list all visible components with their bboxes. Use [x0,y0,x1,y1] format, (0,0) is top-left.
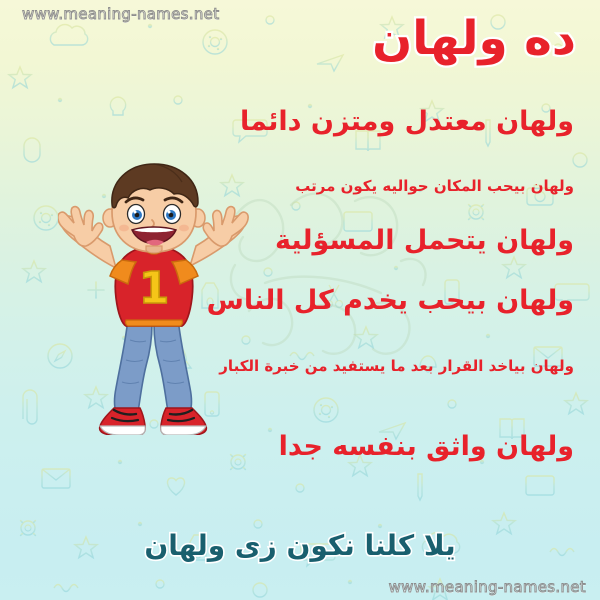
boy-right-arm [190,207,248,266]
ghost-calligraphy-watermark [205,165,455,385]
boy-left-arm [58,207,116,268]
closing-line: يلا كلنا نكون زى ولهان [0,530,600,562]
name-meaning-card: www.meaning-names.net ده ولهان ولهان معت… [0,0,600,600]
trait-line-3: ولهان يتحمل المسؤلية [275,226,574,256]
page-title: ده ولهان [372,14,576,63]
trait-line-2: ولهان بيحب المكان حواليه يكون مرتب [295,178,574,195]
trait-line-6: ولهان واثق بنفسه جدا [279,432,574,462]
shirt-number: 1 [139,263,170,314]
watermark-bottom: www.meaning-names.net [389,578,586,596]
boy-legs [115,318,192,412]
boy-shirt: 1 [110,246,198,326]
trait-line-1: ولهان معتدل ومتزن دائما [240,107,574,137]
trait-line-5: ولهان بياخد القرار بعد ما يستفيد من خبرة… [219,358,574,375]
boy-head [103,164,205,252]
trait-line-4: ولهان بيحب يخدم كل الناس [207,286,574,316]
boy-shoes [100,408,207,435]
watermark-top: www.meaning-names.net [22,5,219,23]
